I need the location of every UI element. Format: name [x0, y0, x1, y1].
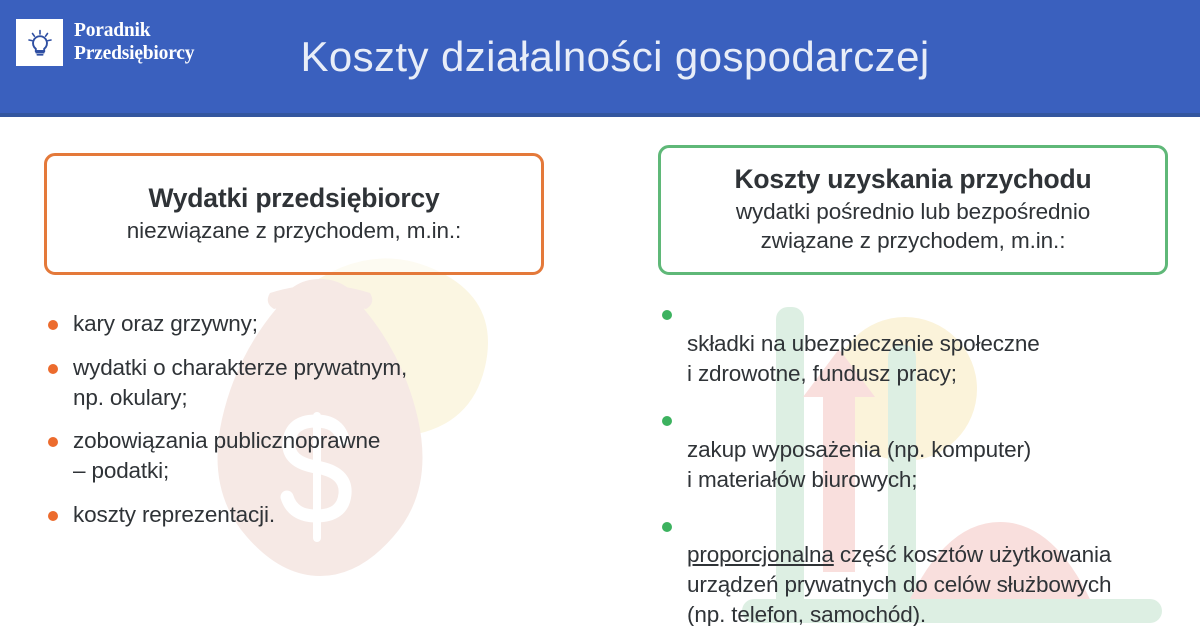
column-deductible-costs: Koszty uzyskania przychodu wydatki pośre… [658, 117, 1168, 626]
card-deductible-costs-subtitle: wydatki pośrednio lub bezpośrednio związ… [679, 198, 1147, 255]
list-item: kary oraz grzywny; [44, 309, 544, 339]
list-item-text: składki na ubezpieczenie społeczne i zdr… [687, 331, 1040, 386]
list-item: zakup wyposażenia (np. komputer) i mater… [658, 405, 1168, 495]
infographic-root: Poradnik Przedsiębiorcy Koszty działalno… [0, 0, 1200, 626]
card-deductible-costs: Koszty uzyskania przychodu wydatki pośre… [658, 145, 1168, 275]
page-title: Koszty działalności gospodarczej [0, 0, 1200, 113]
card-expenses-title: Wydatki przedsiębiorcy [65, 182, 523, 214]
expenses-list: kary oraz grzywny; wydatki o charakterze… [44, 309, 544, 531]
column-expenses: Wydatki przedsiębiorcy niezwiązane z prz… [44, 117, 544, 544]
list-item-emphasis: proporcjonalna [687, 542, 834, 567]
list-item: składki na ubezpieczenie społeczne i zdr… [658, 299, 1168, 389]
content-area: Wydatki przedsiębiorcy niezwiązane z prz… [0, 117, 1200, 626]
card-expenses-subtitle: niezwiązane z przychodem, m.in.: [65, 217, 523, 245]
page-header: Poradnik Przedsiębiorcy Koszty działalno… [0, 0, 1200, 117]
list-item: koszty reprezentacji. [44, 500, 544, 530]
card-deductible-costs-title: Koszty uzyskania przychodu [679, 163, 1147, 195]
list-item: wydatki o charakterze prywatnym, np. oku… [44, 353, 544, 413]
deductible-costs-list: składki na ubezpieczenie społeczne i zdr… [658, 299, 1168, 626]
card-expenses: Wydatki przedsiębiorcy niezwiązane z prz… [44, 153, 544, 275]
list-item-text: zakup wyposażenia (np. komputer) i mater… [687, 437, 1031, 492]
list-item: proporcjonalna część kosztów użytkowania… [658, 511, 1168, 626]
list-item: zobowiązania publicznoprawne – podatki; [44, 426, 544, 486]
